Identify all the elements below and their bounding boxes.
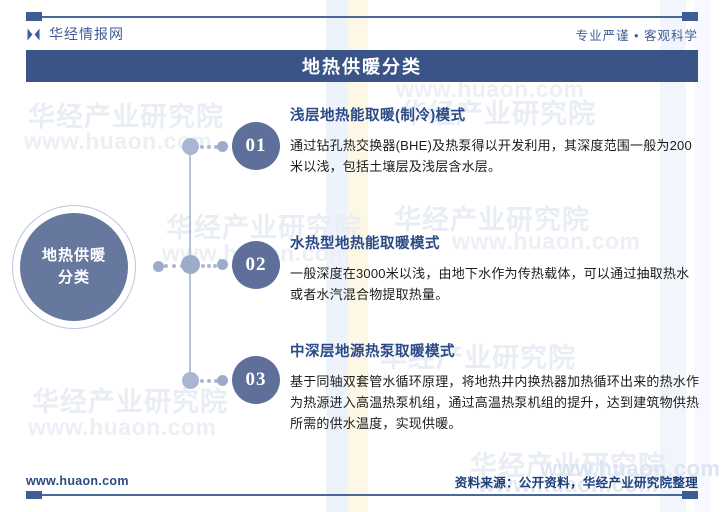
hub-label-line2: 分类 [58, 267, 90, 290]
item-body: 一般深度在3000米以浅，由地下水作为传热载体，可以通过抽取热水或者水汽混合物提… [290, 263, 700, 305]
item-block: 浅层地热能取暖(制冷)模式 通过钻孔热交换器(BHE)及热泵得以开发利用，其深度… [290, 104, 700, 177]
watermark-url: www.huaon.com [28, 414, 216, 441]
item-block: 中深层地源热泵取暖模式 基于同轴双套管水循环原理，将地热井内换热器加热循环出来的… [290, 340, 700, 434]
item-body: 通过钻孔热交换器(BHE)及热泵得以开发利用，其深度范围一般为200米以浅，包括… [290, 135, 700, 177]
connector-dot [153, 261, 164, 272]
item-block: 水热型地热能取暖模式 一般深度在3000米以浅，由地下水作为传热载体，可以通过抽… [290, 232, 700, 305]
footer-divider-cap-left [26, 491, 42, 499]
page-title-bar: 地热供暖分类 [26, 50, 698, 82]
connector-dotted-line [200, 379, 218, 387]
connector-dot [217, 375, 228, 386]
connector-dotted-line [200, 145, 218, 153]
footer-url[interactable]: www.huaon.com [26, 474, 129, 488]
item-number-badge: 01 [232, 122, 280, 170]
item-heading: 中深层地源热泵取暖模式 [290, 340, 700, 361]
connector-node [181, 255, 200, 274]
footer-divider [26, 494, 698, 496]
connector-dot [217, 259, 228, 270]
page-footer: www.huaon.com 资料来源：公开资料，华经产业研究院整理 [26, 470, 698, 492]
item-heading: 水热型地热能取暖模式 [290, 232, 700, 253]
header-slogan: 专业严谨 • 客观科学 [576, 25, 698, 44]
infographic-page: 华经产业研究院 www.huaon.com 华经产业研究院 www.huaon.… [0, 0, 723, 512]
footer-source: 资料来源：公开资料，华经产业研究院整理 [455, 472, 698, 491]
item-body: 基于同轴双套管水循环原理，将地热井内换热器加热循环出来的热水作为热源进入高温热泵… [290, 371, 700, 434]
footer-divider-cap-right [682, 491, 698, 499]
bowtie-logo-icon [26, 27, 41, 42]
hub-label-line1: 地热供暖 [42, 245, 106, 268]
connector-dot [217, 141, 228, 152]
brand-name: 华经情报网 [49, 24, 124, 44]
hub-circle: 地热供暖 分类 [20, 213, 128, 321]
watermark-company: 华经产业研究院 [32, 380, 228, 419]
page-title: 地热供暖分类 [302, 53, 422, 79]
item-heading: 浅层地热能取暖(制冷)模式 [290, 104, 700, 125]
item-number-badge: 03 [232, 356, 280, 404]
connector-node [182, 138, 199, 155]
watermark-company: 华经产业研究院 [28, 95, 224, 134]
item-number-badge: 02 [232, 241, 280, 289]
connector-dotted-line [201, 264, 217, 272]
top-divider [26, 16, 698, 18]
page-header: 华经情报网 专业严谨 • 客观科学 [26, 20, 698, 48]
connector-node [182, 372, 199, 389]
brand: 华经情报网 [26, 24, 124, 44]
